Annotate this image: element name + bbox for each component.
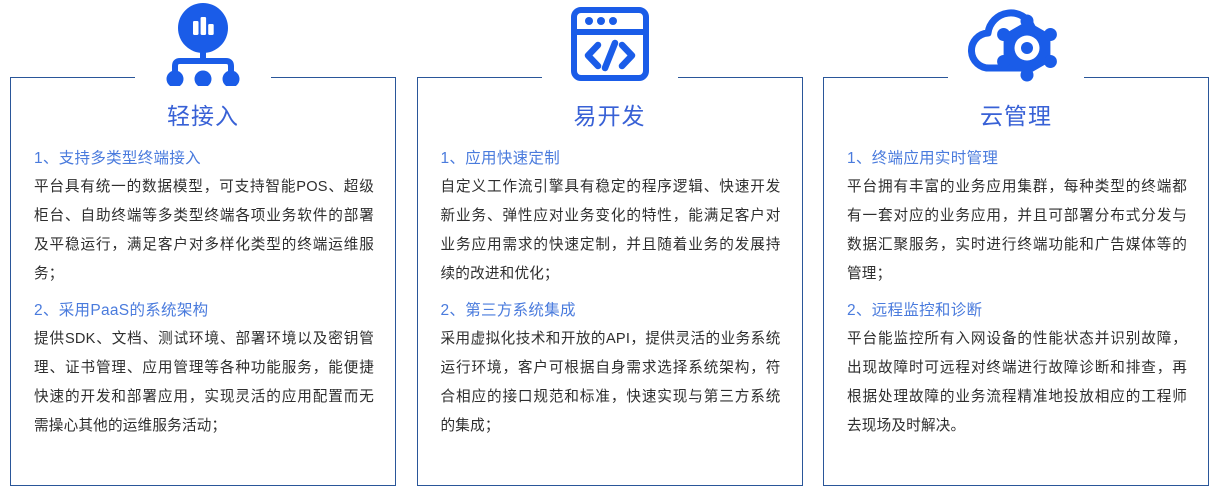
card-title: 轻接入 (10, 101, 396, 131)
card-section: 1、终端应用实时管理 平台拥有丰富的业务应用集群，每种类型的终端都有一套对应的业… (847, 144, 1187, 289)
card-body: 1、应用快速定制 自定义工作流引擎具有稳定的程序逻辑、快速开发新业务、弹性应对业… (417, 144, 803, 441)
card-body: 1、终端应用实时管理 平台拥有丰富的业务应用集群，每种类型的终端都有一套对应的业… (823, 144, 1209, 441)
section-text: 自定义工作流引擎具有稳定的程序逻辑、快速开发新业务、弹性应对业务变化的特性，能满… (441, 173, 781, 289)
cloud-gear-icon (823, 2, 1209, 86)
section-heading: 1、终端应用实时管理 (847, 144, 1187, 173)
card-section: 2、采用PaaS的系统架构 提供SDK、文档、测试环境、部署环境以及密钥管理、证… (34, 296, 374, 441)
code-window-icon (417, 2, 803, 86)
card-section: 2、远程监控和诊断 平台能监控所有入网设备的性能状态并识别故障，出现故障时可远程… (847, 296, 1187, 441)
section-heading: 1、应用快速定制 (441, 144, 781, 173)
section-heading: 1、支持多类型终端接入 (34, 144, 374, 173)
feature-card-cloud-management: 云管理 1、终端应用实时管理 平台拥有丰富的业务应用集群，每种类型的终端都有一套… (823, 0, 1209, 492)
section-text: 采用虚拟化技术和开放的API，提供灵活的业务系统运行环境，客户可根据自身需求选择… (441, 325, 781, 441)
section-text: 平台能监控所有入网设备的性能状态并识别故障，出现故障时可远程对终端进行故障诊断和… (847, 325, 1187, 441)
feature-card-easy-development: 易开发 1、应用快速定制 自定义工作流引擎具有稳定的程序逻辑、快速开发新业务、弹… (417, 0, 803, 492)
section-heading: 2、远程监控和诊断 (847, 296, 1187, 325)
feature-cards-board: 轻接入 1、支持多类型终端接入 平台具有统一的数据模型，可支持智能POS、超级柜… (0, 0, 1219, 498)
card-body: 1、支持多类型终端接入 平台具有统一的数据模型，可支持智能POS、超级柜台、自助… (10, 144, 396, 441)
card-section: 1、应用快速定制 自定义工作流引擎具有稳定的程序逻辑、快速开发新业务、弹性应对业… (441, 144, 781, 289)
section-text: 提供SDK、文档、测试环境、部署环境以及密钥管理、证书管理、应用管理等各种功能服… (34, 325, 374, 441)
feature-card-light-access: 轻接入 1、支持多类型终端接入 平台具有统一的数据模型，可支持智能POS、超级柜… (10, 0, 396, 492)
card-title: 云管理 (823, 101, 1209, 131)
card-title: 易开发 (417, 101, 803, 131)
network-topology-icon (10, 2, 396, 86)
section-heading: 2、第三方系统集成 (441, 296, 781, 325)
section-heading: 2、采用PaaS的系统架构 (34, 296, 374, 325)
card-section: 1、支持多类型终端接入 平台具有统一的数据模型，可支持智能POS、超级柜台、自助… (34, 144, 374, 289)
section-text: 平台拥有丰富的业务应用集群，每种类型的终端都有一套对应的业务应用，并且可部署分布… (847, 173, 1187, 289)
section-text: 平台具有统一的数据模型，可支持智能POS、超级柜台、自助终端等多类型终端各项业务… (34, 173, 374, 289)
card-section: 2、第三方系统集成 采用虚拟化技术和开放的API，提供灵活的业务系统运行环境，客… (441, 296, 781, 441)
